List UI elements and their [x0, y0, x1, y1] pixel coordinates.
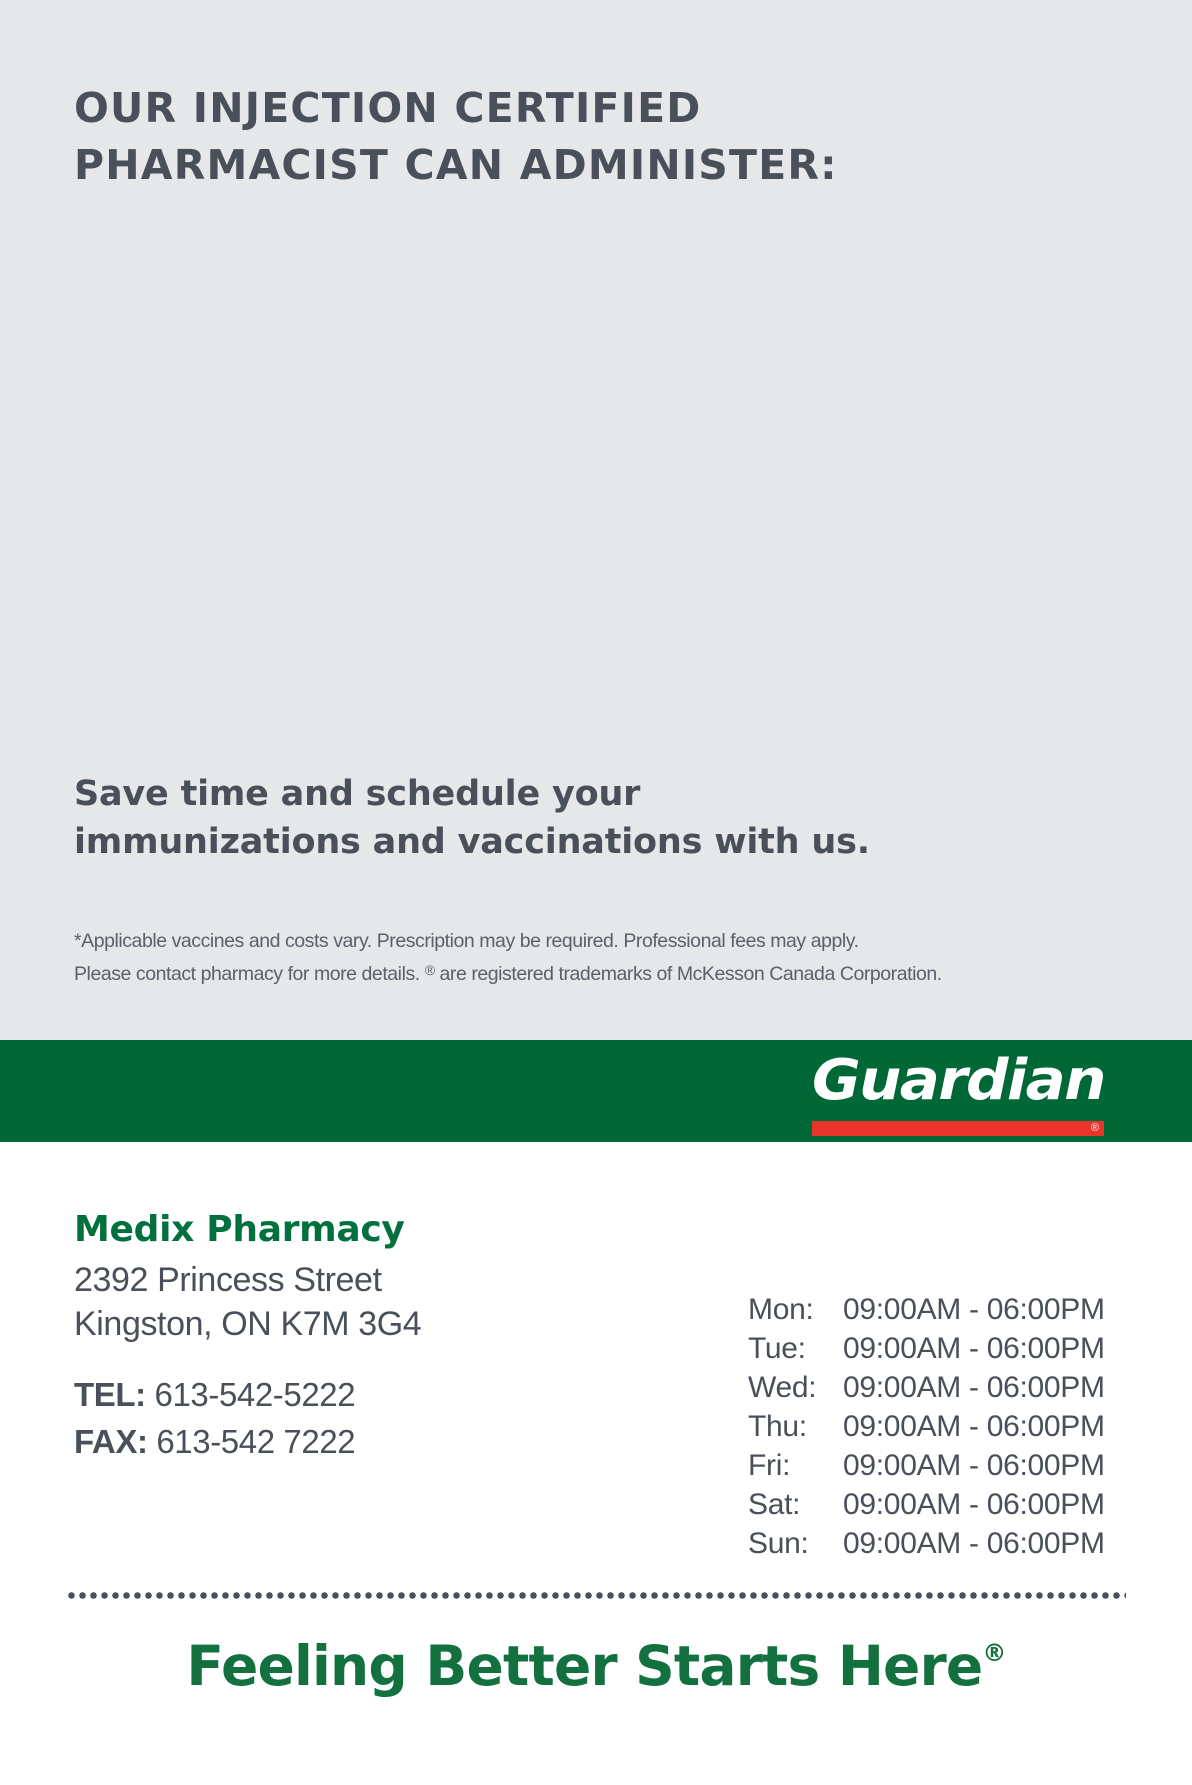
- hours-row: Fri: 09:00AM - 06:00PM: [748, 1446, 1138, 1485]
- store-name: Medix Pharmacy: [74, 1208, 634, 1251]
- headline-line-1: OUR INJECTION CERTIFIED: [74, 80, 974, 137]
- hours-day-label: Tue:: [748, 1329, 843, 1368]
- page-title: OUR INJECTION CERTIFIED PHARMACIST CAN A…: [74, 80, 974, 193]
- guardian-logo: Guardian ®: [812, 1052, 1104, 1134]
- registered-trademark-icon: ®: [425, 962, 435, 978]
- disclaimer-line-2: Please contact pharmacy for more details…: [74, 958, 1134, 991]
- hours-row: Sat: 09:00AM - 06:00PM: [748, 1485, 1138, 1524]
- disclaimer-line-2-post: are registered trademarks of McKesson Ca…: [435, 963, 942, 985]
- flyer-page: OUR INJECTION CERTIFIED PHARMACIST CAN A…: [0, 0, 1192, 1785]
- hours-day-label: Mon:: [748, 1290, 843, 1329]
- store-info: Medix Pharmacy 2392 Princess Street King…: [74, 1208, 634, 1466]
- guardian-logo-wordmark: Guardian: [812, 1052, 1122, 1111]
- hours-row: Sun: 09:00AM - 06:00PM: [748, 1524, 1138, 1563]
- hours-row: Mon: 09:00AM - 06:00PM: [748, 1290, 1138, 1329]
- telephone-value[interactable]: 613-542-5222: [155, 1376, 356, 1413]
- brand-band: Guardian ®: [0, 1040, 1192, 1142]
- disclaimer-line-2-pre: Please contact pharmacy for more details…: [74, 963, 425, 985]
- hours-time-value: 09:00AM - 06:00PM: [843, 1446, 1138, 1485]
- subheadline-line-2: immunizations and vaccinations with us.: [74, 818, 934, 866]
- tagline-registered-icon: ®: [982, 1639, 1005, 1667]
- subheadline-line-1: Save time and schedule your: [74, 770, 934, 818]
- store-address: 2392 Princess Street Kingston, ON K7M 3G…: [74, 1259, 634, 1346]
- guardian-registered-icon: ®: [1091, 1122, 1099, 1135]
- hours-time-value: 09:00AM - 06:00PM: [843, 1329, 1138, 1368]
- hours-time-value: 09:00AM - 06:00PM: [843, 1485, 1138, 1524]
- disclaimer-line-1: *Applicable vaccines and costs vary. Pre…: [74, 925, 1134, 958]
- telephone-label: TEL:: [74, 1376, 146, 1413]
- hours-day-label: Sat:: [748, 1485, 843, 1524]
- hours-row: Wed: 09:00AM - 06:00PM: [748, 1368, 1138, 1407]
- hours-day-label: Wed:: [748, 1368, 843, 1407]
- subheadline: Save time and schedule your immunization…: [74, 770, 934, 867]
- hours-row: Tue: 09:00AM - 06:00PM: [748, 1329, 1138, 1368]
- dotted-divider: [66, 1592, 1126, 1599]
- hours-day-label: Fri:: [748, 1446, 843, 1485]
- hours-day-label: Sun:: [748, 1524, 843, 1563]
- hours-time-value: 09:00AM - 06:00PM: [843, 1368, 1138, 1407]
- tagline: Feeling Better Starts Here®: [0, 1636, 1192, 1697]
- hours-time-value: 09:00AM - 06:00PM: [843, 1407, 1138, 1446]
- disclaimer-text: *Applicable vaccines and costs vary. Pre…: [74, 925, 1134, 991]
- store-telephone-row[interactable]: TEL: 613-542-5222: [74, 1372, 634, 1419]
- store-fax-row: FAX: 613-542 7222: [74, 1419, 634, 1466]
- hours-day-label: Thu:: [748, 1407, 843, 1446]
- hours-time-value: 09:00AM - 06:00PM: [843, 1524, 1138, 1563]
- fax-label: FAX:: [74, 1423, 148, 1460]
- headline-line-2: PHARMACIST CAN ADMINISTER:: [74, 137, 974, 194]
- store-address-line-2: Kingston, ON K7M 3G4: [74, 1303, 634, 1347]
- guardian-logo-underline: [812, 1121, 1104, 1136]
- tagline-text: Feeling Better Starts Here: [186, 1634, 982, 1698]
- hero-panel: OUR INJECTION CERTIFIED PHARMACIST CAN A…: [0, 0, 1192, 1040]
- fax-value: 613-542 7222: [156, 1423, 355, 1460]
- hours-time-value: 09:00AM - 06:00PM: [843, 1290, 1138, 1329]
- store-contact: TEL: 613-542-5222 FAX: 613-542 7222: [74, 1372, 634, 1466]
- hours-row: Thu: 09:00AM - 06:00PM: [748, 1407, 1138, 1446]
- store-address-line-1: 2392 Princess Street: [74, 1259, 634, 1303]
- store-hours-table: Mon: 09:00AM - 06:00PM Tue: 09:00AM - 06…: [748, 1290, 1138, 1563]
